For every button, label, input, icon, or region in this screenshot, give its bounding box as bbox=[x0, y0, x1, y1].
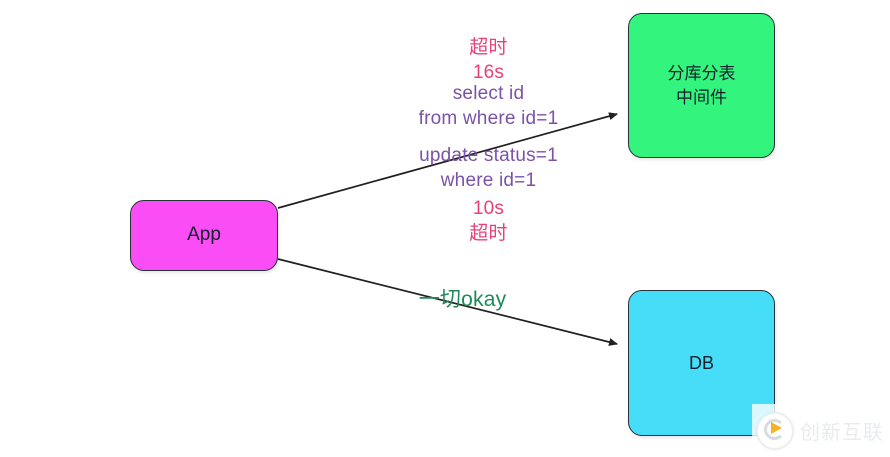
annotation-all-okay: 一切okay bbox=[370, 286, 555, 313]
node-db-label: DB bbox=[689, 351, 714, 376]
node-sharding-middleware[interactable]: 分库分表 中间件 bbox=[628, 13, 775, 158]
node-app-label: App bbox=[187, 222, 221, 248]
circle-swoosh-logo-icon bbox=[756, 412, 794, 450]
watermark: 创新互联 bbox=[752, 404, 890, 457]
watermark-text: 创新互联 bbox=[800, 416, 884, 445]
annotation-timeout-10s: 10s 超时 bbox=[381, 197, 596, 246]
annotation-select-sql: select id from where id=1 bbox=[381, 82, 596, 131]
diagram-canvas: App 分库分表 中间件 DB 超时 16s select id from wh… bbox=[0, 0, 890, 457]
annotation-update-sql: update status=1 where id=1 bbox=[381, 144, 596, 193]
node-app[interactable]: App bbox=[130, 200, 278, 271]
annotation-timeout-16s: 超时 16s bbox=[381, 36, 596, 85]
node-sharding-middleware-label: 分库分表 中间件 bbox=[668, 62, 736, 109]
